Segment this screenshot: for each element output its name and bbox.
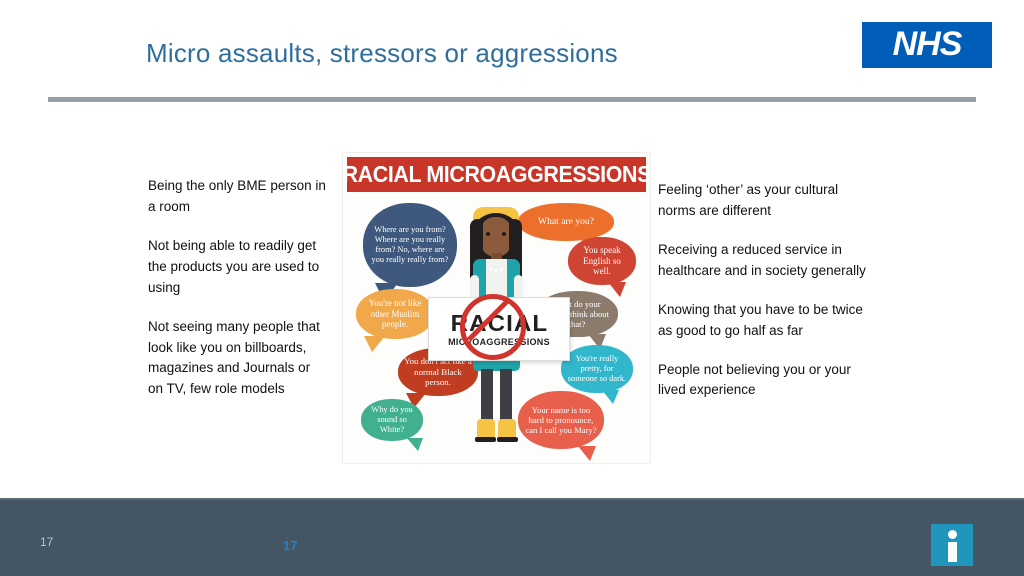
info-icon-stem [948, 542, 957, 562]
right-item-4: People not believing you or your lived e… [658, 360, 873, 402]
poster-heading-text: RACIAL MICROAGGRESSIONS [342, 161, 650, 188]
eye-right [502, 232, 506, 236]
nhs-logo-text: NHS [893, 27, 962, 61]
info-icon-dot [948, 530, 957, 539]
eye-left [486, 232, 490, 236]
poster-heading-band: RACIAL MICROAGGRESSIONS [347, 157, 646, 192]
bubble-tail [364, 336, 385, 352]
right-item-3: Knowing that you have to be twice as goo… [658, 300, 873, 342]
bubble-text: You're really pretty, for someone so dar… [567, 354, 627, 384]
boot-sole-left [475, 437, 496, 442]
left-item-2: Not being able to readily get the produc… [148, 236, 328, 299]
poster-body: Where are you from? Where are you really… [343, 193, 650, 463]
title-divider [48, 97, 976, 102]
racial-microaggressions-poster: RACIAL MICROAGGRESSIONS Where are you fr… [342, 152, 651, 464]
left-item-1: Being the only BME person in a room [148, 176, 328, 218]
speech-bubble-speak-english: You speak English so well. [568, 237, 636, 285]
sign-sub-text: MICROAGGRESSIONS [448, 337, 550, 347]
slide: Micro assaults, stressors or aggressions… [0, 0, 1024, 576]
boot-sole-right [497, 437, 518, 442]
bubble-text: Why do you sound so White? [367, 405, 417, 435]
speech-bubble-muslim: You're not like other Muslim people. [356, 289, 434, 339]
left-item-3: Not seeing many people that look like yo… [148, 317, 328, 401]
bubble-text: You're not like other Muslim people. [362, 298, 428, 330]
nhs-logo: NHS [862, 22, 992, 68]
bubble-text: What are you? [538, 216, 594, 227]
bubble-tail [602, 390, 619, 404]
page-title: Micro assaults, stressors or aggressions [146, 38, 618, 69]
speech-bubble-pretty-so-dark: You're really pretty, for someone so dar… [561, 345, 633, 393]
footer-center-number: 17 [283, 538, 297, 553]
bubble-text: Where are you from? Where are you really… [369, 225, 451, 265]
bubble-tail [407, 438, 423, 451]
sign-main-text: RACIAL [450, 312, 548, 335]
speech-bubble-sound-white: Why do you sound so White? [361, 399, 423, 441]
protest-sign: RACIAL MICROAGGRESSIONS [428, 297, 570, 361]
footer-bar [0, 498, 1024, 576]
left-text-column: Being the only BME person in a room Not … [148, 176, 328, 400]
right-item-1: Feeling ‘other’ as your cultural norms a… [658, 180, 873, 222]
leg-right [500, 369, 512, 425]
right-item-2: Receiving a reduced service in healthcar… [658, 240, 873, 282]
bubble-text: You speak English so well. [574, 245, 630, 277]
speech-bubble-where-from: Where are you from? Where are you really… [363, 203, 457, 287]
page-number: 17 [40, 535, 53, 549]
information-icon [931, 524, 973, 566]
bubble-tail [608, 282, 626, 297]
leg-left [481, 369, 493, 425]
right-text-column: Feeling ‘other’ as your cultural norms a… [658, 180, 873, 401]
face [480, 217, 512, 257]
bubble-tail [578, 446, 596, 461]
footer-top-edge [0, 498, 1024, 500]
